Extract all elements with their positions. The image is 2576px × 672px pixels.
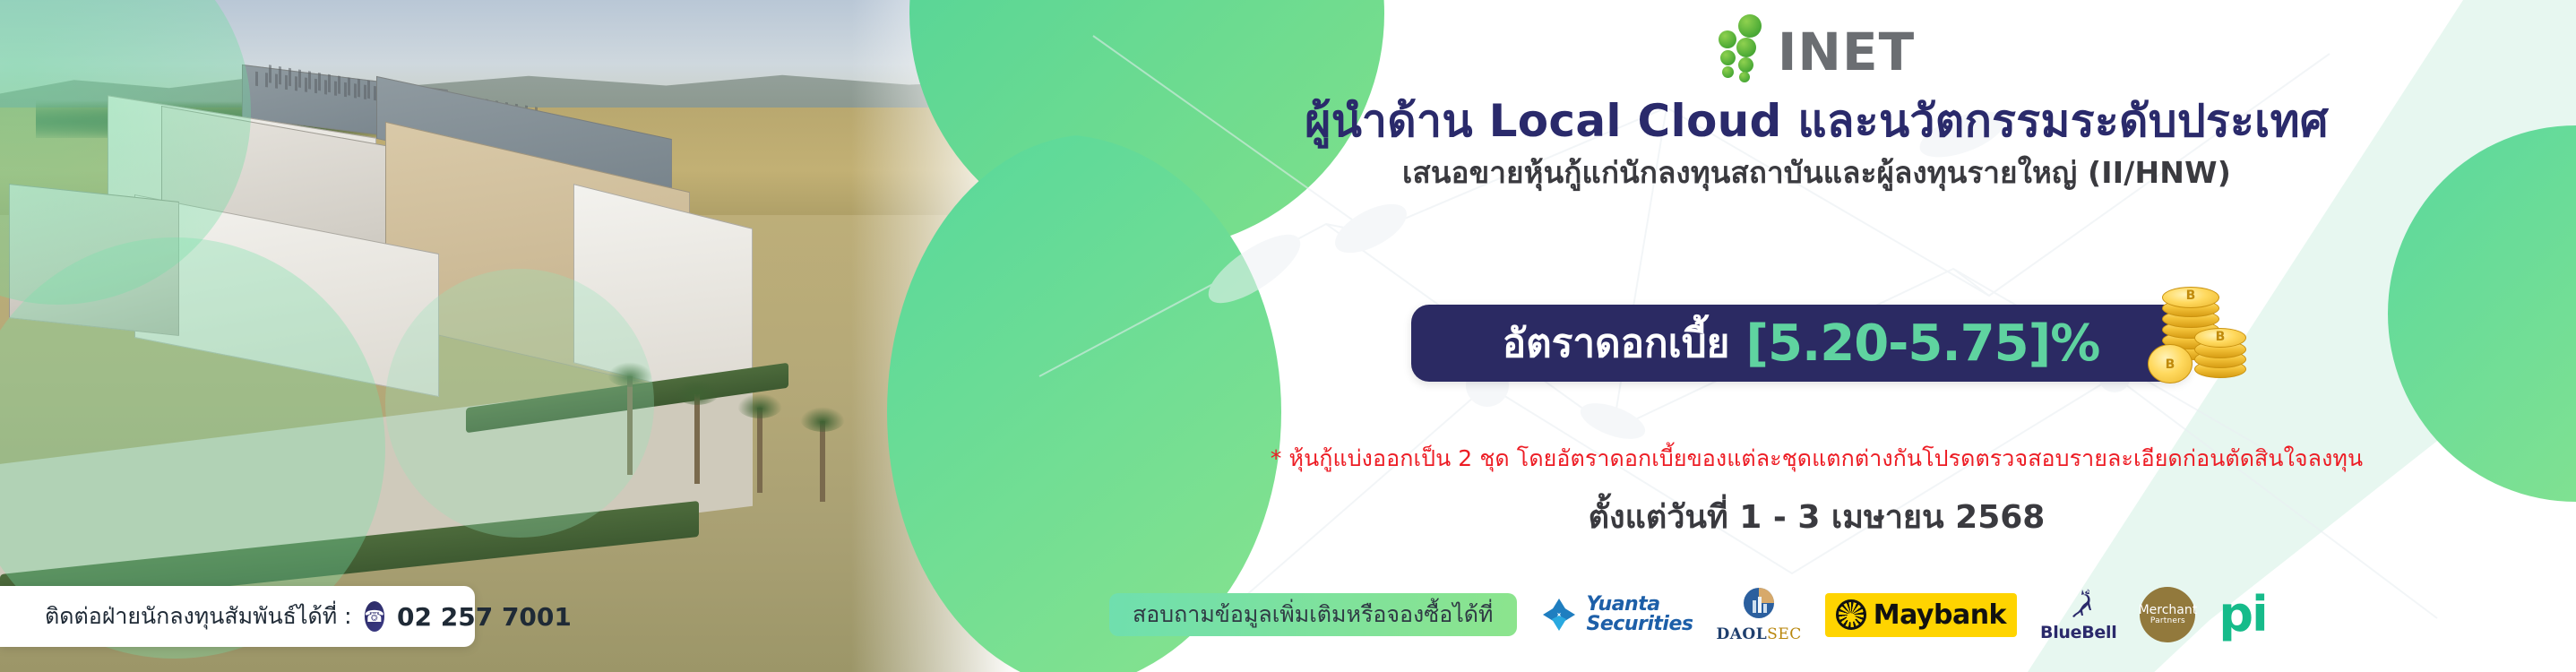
bluebell-deer-icon <box>2061 587 2097 623</box>
interest-rate-box: อัตราดอกเบี้ย [5.20-5.75]% <box>1411 305 2191 382</box>
gold-coins-icon: B B B <box>2146 278 2262 385</box>
inet-logo: INET <box>1057 13 2576 77</box>
contact-label: ติดต่อฝ่ายนักลงทุนสัมพันธ์ได้ที่ : <box>45 599 352 634</box>
rate-section: อัตราดอกเบี้ย [5.20-5.75]% B B <box>1057 296 2576 403</box>
subheadline: เสนอขายหุ้นกู้แก่นักลงทุนสถาบันและผู้ลงท… <box>1057 149 2576 196</box>
contact-card: ติดต่อฝ่ายนักลงทุนสัมพันธ์ได้ที่ : ☎ 02 … <box>0 586 475 647</box>
maybank-tiger-icon <box>1836 599 1866 630</box>
partners-row: สอบถามข้อมูลเพิ่มเติมหรือจองซื้อได้ที่ Y… <box>1109 581 2576 649</box>
merchant-line1: Merchant <box>2139 604 2198 617</box>
partner-logo-bluebell[interactable]: BlueBell <box>2040 582 2116 648</box>
palm-tree <box>627 376 633 475</box>
daol-circle-icon <box>1738 586 1779 624</box>
content-column: INET ผู้นำด้าน Local Cloud และนวัตกรรมระ… <box>1057 0 2576 672</box>
palm-tree <box>820 421 825 502</box>
building-g <box>9 184 179 336</box>
offer-dateline: ตั้งแต่วันที่ 1 - 3 เมษายน 2568 <box>1057 491 2576 542</box>
daol-suffix: SEC <box>1767 625 1802 643</box>
merchant-line2: Partners <box>2150 617 2185 625</box>
palm-tree <box>757 408 762 493</box>
yuanta-line2: Securities <box>1587 615 1693 634</box>
cta-button[interactable]: สอบถามข้อมูลเพิ่มเติมหรือจองซื้อได้ที่ <box>1109 593 1517 636</box>
inet-dots-icon <box>1719 13 1772 77</box>
partner-logo-maybank[interactable]: Maybank <box>1825 582 2017 648</box>
maybank-name: Maybank <box>1874 599 2006 631</box>
daol-name: DAOL <box>1716 625 1767 643</box>
disclaimer-note: * หุ้นกู้แบ่งออกเป็น 2 ชุด โดยอัตราดอกเบ… <box>1057 441 2576 477</box>
palm-tree <box>694 394 700 484</box>
partner-logo-pi[interactable]: pi <box>2218 582 2266 648</box>
partner-logo-yuanta[interactable]: Yuanta Securities <box>1540 582 1693 648</box>
bluebell-name: BlueBell <box>2040 623 2116 642</box>
interest-rate-value: [5.20-5.75]% <box>1745 314 2099 373</box>
promo-banner: INET ผู้นำด้าน Local Cloud และนวัตกรรมระ… <box>0 0 2576 672</box>
yuanta-line1: Yuanta <box>1587 595 1693 615</box>
contact-phone[interactable]: 02 257 7001 <box>397 602 572 632</box>
merchant-partners-icon: Merchant Partners <box>2140 587 2195 642</box>
inet-wordmark: INET <box>1778 29 1915 75</box>
pi-name: pi <box>2218 594 2266 635</box>
phone-icon: ☎ <box>365 601 384 632</box>
yuanta-star-icon <box>1540 596 1578 633</box>
partner-logo-daol[interactable]: DAOLSEC <box>1716 582 1801 648</box>
partner-logo-merchant[interactable]: Merchant Partners <box>2140 582 2195 648</box>
headline: ผู้นำด้าน Local Cloud และนวัตกรรมระดับปร… <box>1057 86 2576 157</box>
interest-rate-label: อัตราดอกเบี้ย <box>1503 312 1730 375</box>
